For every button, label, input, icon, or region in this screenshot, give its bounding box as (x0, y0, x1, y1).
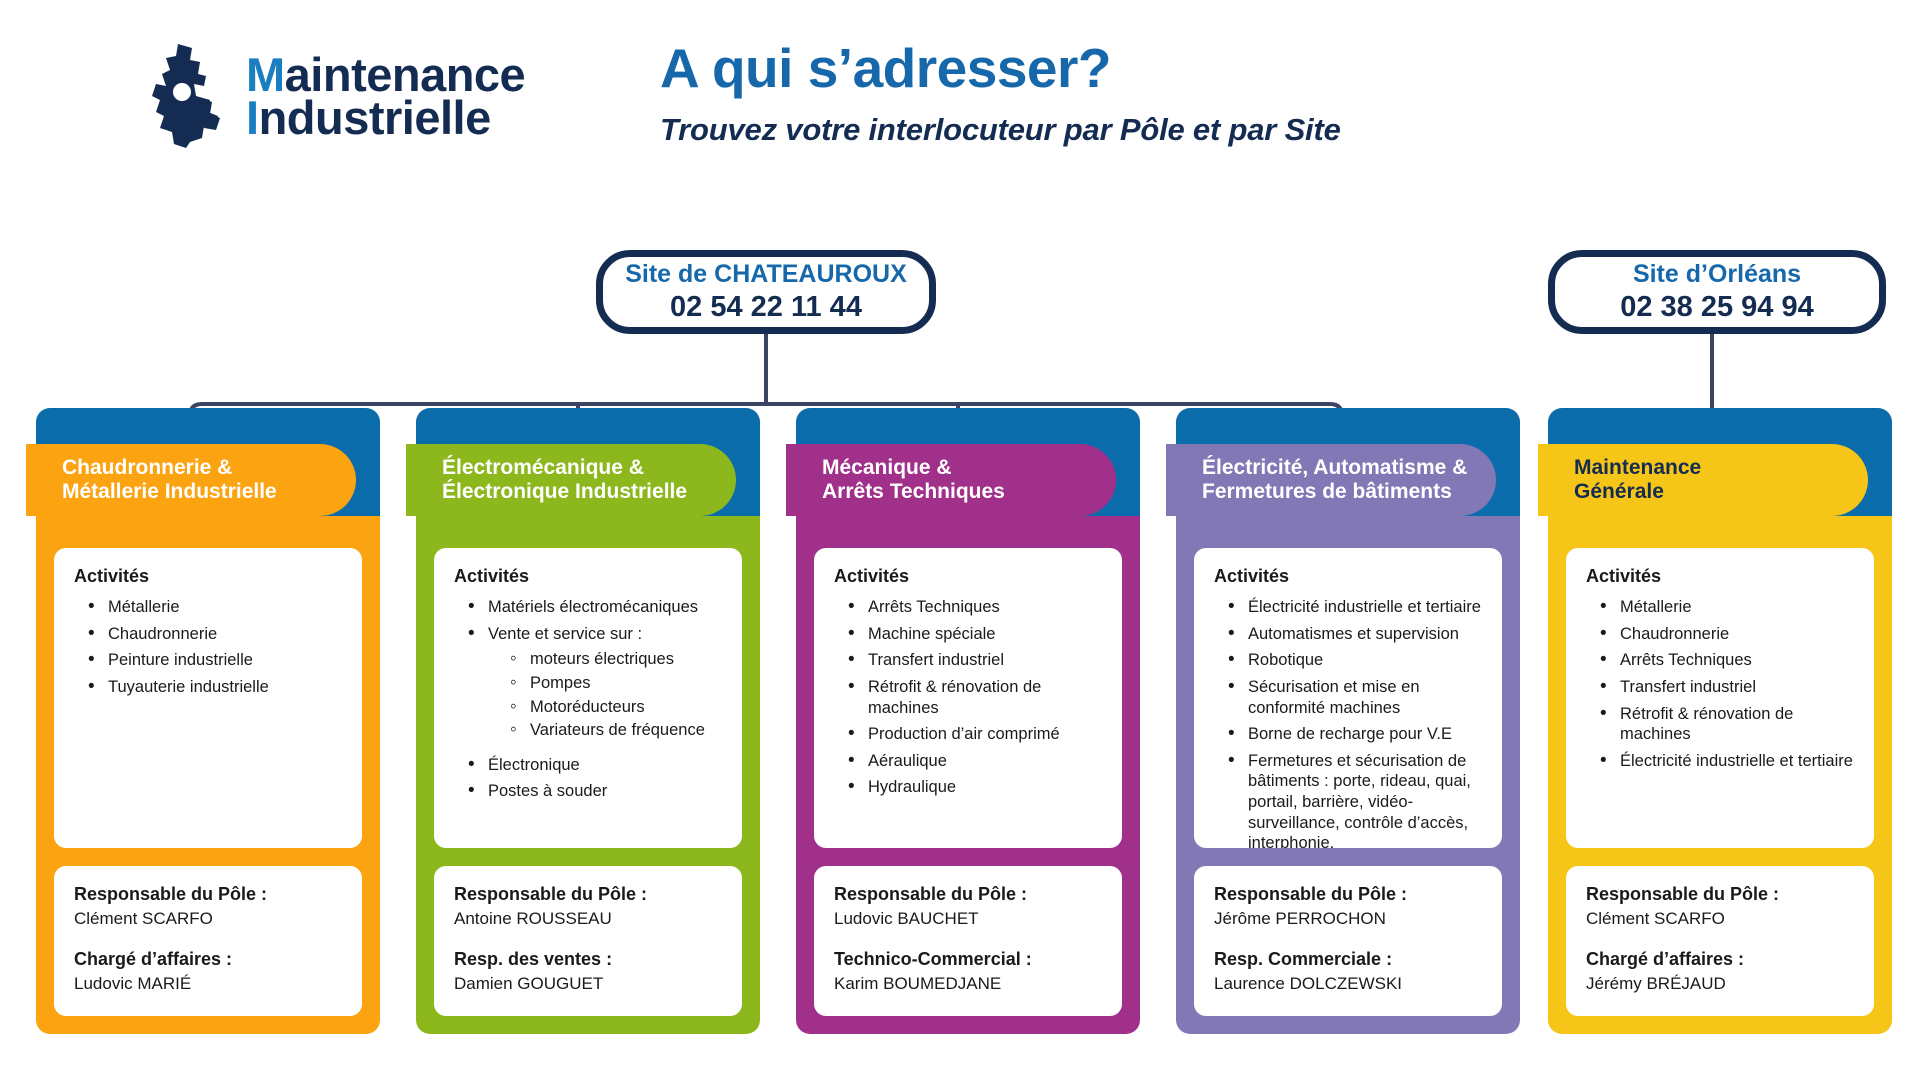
activities-heading: Activités (454, 566, 722, 587)
role-person-name: Karim BOUMEDJANE (834, 974, 1102, 994)
activity-item: Électricité industrielle et tertiaire (1600, 751, 1854, 772)
activity-label: Borne de recharge pour V.E (1248, 725, 1452, 743)
logo-line-1: Maintenance (246, 53, 525, 96)
pole-column-5: Maintenance GénéraleActivitésMétallerieC… (1548, 408, 1892, 1034)
activity-item: Production d’air comprimé (848, 724, 1102, 745)
role-person-name: Clément SCARFO (74, 909, 342, 929)
activity-item: Électricité industrielle et tertiaire (1228, 597, 1482, 618)
page-title: A qui s’adresser? (660, 40, 1720, 98)
role-label: Responsable du Pôle : (834, 884, 1102, 905)
company-logo: Maintenance Industrielle (148, 42, 525, 150)
role-person-name: Jérôme PERROCHON (1214, 909, 1482, 929)
activity-item: Matériels électromécaniques (468, 597, 722, 618)
page-subtitle: Trouvez votre interlocuteur par Pôle et … (660, 112, 1720, 148)
activity-label: Sécurisation et mise en conformité machi… (1248, 678, 1420, 717)
role-person-name: Ludovic MARIÉ (74, 974, 342, 994)
contacts-card: Responsable du Pôle :Jérôme PERROCHONRes… (1194, 866, 1502, 1016)
activity-label: Fermetures et sécurisation de bâtiments … (1248, 752, 1471, 848)
role-label: Resp. des ventes : (454, 949, 722, 970)
activity-sublist: moteurs électriquesPompesMotoréducteursV… (510, 649, 722, 741)
activity-subitem: Pompes (510, 673, 722, 694)
activity-label: Chaudronnerie (108, 625, 217, 643)
infographic-root: Maintenance Industrielle A qui s’adresse… (0, 0, 1920, 1080)
activity-subitem: Motoréducteurs (510, 697, 722, 718)
activity-label: Tuyauterie industrielle (108, 678, 269, 696)
activity-label: Automatismes et supervision (1248, 625, 1459, 643)
contacts-card: Responsable du Pôle :Clément SCARFOCharg… (1566, 866, 1874, 1016)
activity-item: Hydraulique (848, 777, 1102, 798)
logo-wordmark: Maintenance Industrielle (246, 53, 525, 139)
role-person-name: Antoine ROUSSEAU (454, 909, 722, 929)
role-label: Technico-Commercial : (834, 949, 1102, 970)
activity-item: Transfert industriel (848, 650, 1102, 671)
activity-item: Arrêts Techniques (1600, 650, 1854, 671)
activity-label: Rétrofit & rénovation de machines (868, 678, 1041, 717)
activity-label: Robotique (1248, 651, 1323, 669)
activity-label: Aéraulique (868, 752, 947, 770)
activity-item: Borne de recharge pour V.E (1228, 724, 1482, 745)
activity-item: Fermetures et sécurisation de bâtiments … (1228, 751, 1482, 848)
activity-label: Rétrofit & rénovation de machines (1620, 705, 1793, 744)
activity-item: Métallerie (88, 597, 342, 618)
activities-list: Électricité industrielle et tertiaireAut… (1228, 597, 1482, 848)
role-label: Responsable du Pôle : (1586, 884, 1854, 905)
activity-item: Vente et service sur :moteurs électrique… (468, 624, 722, 741)
activity-label: Postes à souder (488, 782, 607, 800)
pole-title-banner: Mécanique & Arrêts Techniques (786, 444, 1116, 516)
activity-label: Machine spéciale (868, 625, 996, 643)
pole-title-banner: Maintenance Générale (1538, 444, 1868, 516)
activity-item: Robotique (1228, 650, 1482, 671)
activities-card: ActivitésArrêts TechniquesMachine spécia… (814, 548, 1122, 848)
activities-card: ActivitésMétallerieChaudronneriePeinture… (54, 548, 362, 848)
activities-card: ActivitésÉlectricité industrielle et ter… (1194, 548, 1502, 848)
logo-line-2: Industrielle (246, 96, 525, 139)
activity-label: Électricité industrielle et tertiaire (1248, 598, 1481, 616)
contacts-card: Responsable du Pôle :Ludovic BAUCHETTech… (814, 866, 1122, 1016)
role-person-name: Clément SCARFO (1586, 909, 1854, 929)
role-label: Responsable du Pôle : (454, 884, 722, 905)
activity-item: Automatismes et supervision (1228, 624, 1482, 645)
activity-label: Peinture industrielle (108, 651, 253, 669)
pole-title: Électromécanique & Électronique Industri… (442, 456, 687, 505)
activities-card: ActivitésMétallerieChaudronnerieArrêts T… (1566, 548, 1874, 848)
activity-item: Aéraulique (848, 751, 1102, 772)
gear-map-logo-icon (148, 42, 232, 150)
role-label: Responsable du Pôle : (74, 884, 342, 905)
site-phone-orleans[interactable]: 02 38 25 94 94 (1620, 291, 1814, 324)
role-divider (834, 929, 1102, 949)
site-pill-chateauroux[interactable]: Site de CHATEAUROUX 02 54 22 11 44 (596, 250, 936, 334)
activity-item: Machine spéciale (848, 624, 1102, 645)
activity-label: Transfert industriel (868, 651, 1004, 669)
role-person-name: Laurence DOLCZEWSKI (1214, 974, 1482, 994)
site-pill-orleans[interactable]: Site d’Orléans 02 38 25 94 94 (1548, 250, 1886, 334)
activities-heading: Activités (74, 566, 342, 587)
pole-column-3: Mécanique & Arrêts TechniquesActivitésAr… (796, 408, 1140, 1034)
role-person-name: Damien GOUGUET (454, 974, 722, 994)
activity-item: Rétrofit & rénovation de machines (848, 677, 1102, 718)
activities-heading: Activités (834, 566, 1102, 587)
role-label: Chargé d’affaires : (74, 949, 342, 970)
role-person-name: Ludovic BAUCHET (834, 909, 1102, 929)
activity-label: Transfert industriel (1620, 678, 1756, 696)
logo-line-2-rest: ndustrielle (259, 91, 491, 144)
activity-item: Transfert industriel (1600, 677, 1854, 698)
title-block: A qui s’adresser? Trouvez votre interloc… (660, 40, 1720, 148)
site-name-orleans: Site d’Orléans (1633, 260, 1801, 289)
activity-label: Production d’air comprimé (868, 725, 1060, 743)
activities-list: Matériels électromécaniquesVente et serv… (468, 597, 722, 802)
activities-list: MétallerieChaudronneriePeinture industri… (88, 597, 342, 698)
activity-item: Électronique (468, 755, 722, 776)
activity-label: Arrêts Techniques (1620, 651, 1752, 669)
activity-item: Peinture industrielle (88, 650, 342, 671)
pole-column-2: Électromécanique & Électronique Industri… (416, 408, 760, 1034)
activities-heading: Activités (1586, 566, 1854, 587)
pole-column-4: Électricité, Automatisme & Fermetures de… (1176, 408, 1520, 1034)
pole-title-banner: Électromécanique & Électronique Industri… (406, 444, 736, 516)
activity-label: Électronique (488, 756, 580, 774)
pole-title-banner: Chaudronnerie & Métallerie Industrielle (26, 444, 356, 516)
pole-title-banner: Électricité, Automatisme & Fermetures de… (1166, 444, 1496, 516)
pole-title: Électricité, Automatisme & Fermetures de… (1202, 456, 1467, 505)
header: Maintenance Industrielle A qui s’adresse… (0, 0, 1920, 200)
logo-letter-i: I (246, 91, 259, 144)
activities-heading: Activités (1214, 566, 1482, 587)
activity-subitem: Variateurs de fréquence (510, 720, 722, 741)
activity-item: Chaudronnerie (88, 624, 342, 645)
role-divider (454, 929, 722, 949)
role-divider (1586, 929, 1854, 949)
activity-item: Tuyauterie industrielle (88, 677, 342, 698)
activity-item: Postes à souder (468, 781, 722, 802)
activity-subitem: moteurs électriques (510, 649, 722, 670)
pole-title: Maintenance Générale (1574, 456, 1701, 505)
site-name-chateauroux: Site de CHATEAUROUX (625, 260, 907, 289)
activity-label: Métallerie (1620, 598, 1692, 616)
role-divider (74, 929, 342, 949)
activity-label: Vente et service sur : (488, 625, 642, 643)
activities-list: MétallerieChaudronnerieArrêts Techniques… (1600, 597, 1854, 771)
activity-label: Électricité industrielle et tertiaire (1620, 752, 1853, 770)
activity-label: Arrêts Techniques (868, 598, 1000, 616)
activity-item: Métallerie (1600, 597, 1854, 618)
role-label: Responsable du Pôle : (1214, 884, 1482, 905)
activity-label: Hydraulique (868, 778, 956, 796)
activity-label: Métallerie (108, 598, 180, 616)
pole-title: Chaudronnerie & Métallerie Industrielle (62, 456, 277, 505)
activity-item: Chaudronnerie (1600, 624, 1854, 645)
role-person-name: Jérémy BRÉJAUD (1586, 974, 1854, 994)
contacts-card: Responsable du Pôle :Clément SCARFOCharg… (54, 866, 362, 1016)
pole-title: Mécanique & Arrêts Techniques (822, 456, 1005, 505)
pole-column-1: Chaudronnerie & Métallerie IndustrielleA… (36, 408, 380, 1034)
role-label: Chargé d’affaires : (1586, 949, 1854, 970)
activities-list: Arrêts TechniquesMachine spécialeTransfe… (848, 597, 1102, 798)
contacts-card: Responsable du Pôle :Antoine ROUSSEAURes… (434, 866, 742, 1016)
activity-label: Matériels électromécaniques (488, 598, 698, 616)
activity-label: Chaudronnerie (1620, 625, 1729, 643)
site-phone-chateauroux[interactable]: 02 54 22 11 44 (670, 291, 862, 324)
role-divider (1214, 929, 1482, 949)
activity-item: Rétrofit & rénovation de machines (1600, 704, 1854, 745)
activities-card: ActivitésMatériels électromécaniquesVent… (434, 548, 742, 848)
role-label: Resp. Commerciale : (1214, 949, 1482, 970)
activity-item: Arrêts Techniques (848, 597, 1102, 618)
activity-item: Sécurisation et mise en conformité machi… (1228, 677, 1482, 718)
